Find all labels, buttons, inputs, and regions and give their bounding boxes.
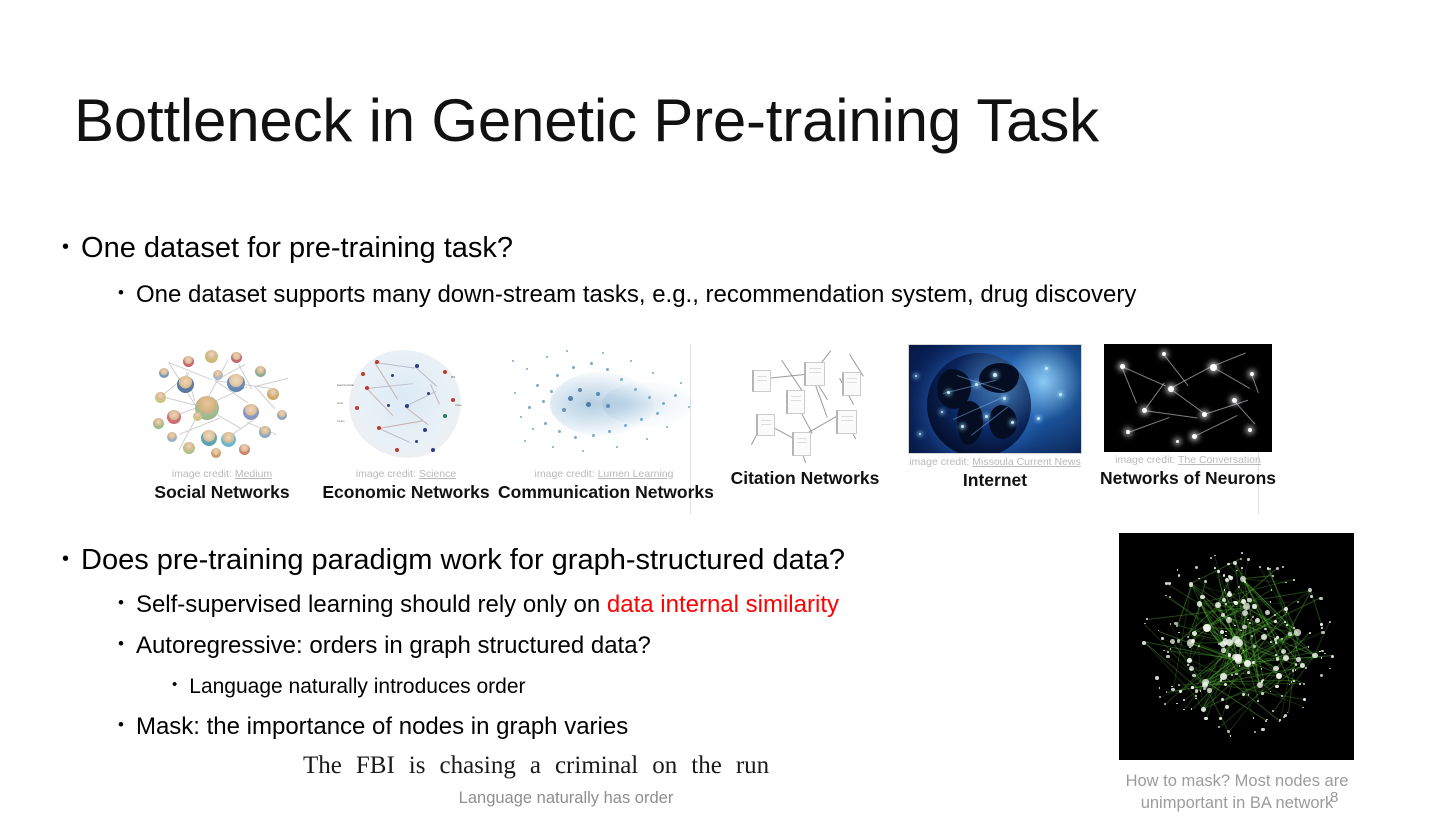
credit-source-link[interactable]: Lumen Learning — [598, 468, 674, 480]
credit-prefix: image credit: — [1115, 454, 1178, 466]
ba-network-node — [1320, 623, 1322, 625]
ba-network-node — [1281, 695, 1283, 697]
ba-network-node — [1192, 631, 1197, 636]
ba-network-node — [1241, 567, 1243, 569]
thumbnail-communication-networks: image credit: Lumen Learning Communicati… — [498, 344, 710, 503]
ba-network-node — [1269, 568, 1271, 570]
ba-network-node — [1142, 641, 1146, 645]
bullet-label: Mask: the importance of nodes in graph v… — [136, 713, 628, 741]
ba-network-node — [1168, 582, 1170, 584]
ba-network-node — [1176, 703, 1178, 705]
bullet-label: Does pre-training paradigm work for grap… — [81, 544, 845, 577]
bullet-dot-icon: • — [118, 715, 124, 735]
ba-network-node — [1223, 574, 1226, 577]
masked-sentence-example: TheFBIischasingacriminalontherun — [296, 752, 776, 780]
ba-network-node — [1275, 685, 1279, 689]
ba-network-node — [1324, 653, 1326, 655]
thumbnail-networks-of-neurons: image credit: The Conversation Networks … — [1090, 344, 1286, 489]
ba-network-node — [1198, 645, 1200, 647]
ba-network-node — [1247, 671, 1250, 674]
thumbnail-caption: Communication Networks — [498, 482, 710, 503]
ba-network-node — [1189, 582, 1194, 587]
ba-network-node — [1249, 622, 1251, 624]
ba-network-node — [1220, 641, 1226, 647]
ba-network-node — [1221, 698, 1224, 701]
sentence-token: the — [684, 752, 729, 780]
ba-network-node — [1207, 688, 1212, 693]
ba-network-node — [1171, 688, 1174, 691]
ba-network-node — [1302, 707, 1304, 709]
ba-network-node — [1253, 645, 1256, 648]
ba-network-node — [1146, 618, 1148, 620]
network-examples-strip: image credit: Medium Social Networks — [130, 344, 1260, 516]
ba-network-node — [1294, 629, 1300, 635]
image-credit: image credit: Medium — [130, 468, 314, 480]
ba-network-node — [1241, 552, 1243, 554]
sentence-token-masked: criminal — [548, 752, 645, 780]
ba-network-node — [1224, 683, 1228, 687]
ba-network-node — [1187, 636, 1189, 638]
bullet-label: Autoregressive: orders in graph structur… — [136, 632, 651, 660]
ba-network-node — [1178, 632, 1180, 634]
ba-network-node — [1270, 691, 1272, 693]
sentence-token-masked: run — [729, 752, 776, 780]
bullet-autoregressive: • Autoregressive: orders in graph struct… — [118, 632, 651, 660]
ba-network-node — [1273, 666, 1279, 672]
ba-network-node — [1305, 667, 1307, 669]
ba-network-node — [1276, 636, 1279, 639]
ba-network-node — [1242, 693, 1245, 696]
ba-caption-line-2: unimportant in BA network — [1108, 793, 1366, 815]
thumbnail-caption: Internet — [900, 470, 1090, 491]
bullet-dot-icon: • — [172, 676, 177, 693]
thumbnail-citation-networks: Citation Networks — [710, 344, 900, 489]
thumbnail-social-networks: image credit: Medium Social Networks — [130, 344, 314, 503]
ba-network-node — [1253, 717, 1255, 719]
ba-network-node — [1179, 690, 1182, 693]
ba-network-node — [1293, 680, 1295, 682]
ba-network-graphic — [1119, 533, 1354, 760]
ba-network-node — [1167, 651, 1169, 653]
ba-network-node — [1308, 646, 1310, 648]
bullet-dot-icon: • — [62, 548, 69, 571]
citation-network-graphic — [720, 344, 890, 466]
sentence-token-masked: chasing — [432, 752, 522, 780]
ba-network-node — [1261, 634, 1267, 640]
credit-prefix: image credit: — [909, 456, 972, 468]
ba-network-node — [1204, 717, 1207, 720]
ba-network-node — [1191, 686, 1194, 689]
ba-network-node — [1303, 683, 1306, 686]
thumbnail-internet: image credit: Missoula Current News Inte… — [900, 344, 1090, 491]
bullet-self-supervised: • Self-supervised learning should rely o… — [118, 591, 839, 619]
ba-network-node — [1210, 557, 1212, 559]
neuron-network-graphic — [1104, 344, 1272, 452]
ba-network-node — [1178, 574, 1180, 576]
ba-network-node — [1177, 569, 1179, 571]
ba-network-node — [1228, 575, 1231, 578]
ba-network-node — [1264, 628, 1266, 630]
ba-network-node — [1286, 624, 1288, 626]
ba-network-node — [1331, 655, 1334, 658]
bullet-label: Language naturally introduces order — [189, 675, 525, 699]
ba-network-node — [1244, 660, 1251, 667]
ba-network-node — [1329, 668, 1331, 670]
ba-network-node — [1329, 621, 1331, 623]
image-credit: image credit: Missoula Current News — [900, 456, 1090, 468]
credit-prefix: image credit: — [356, 468, 419, 480]
ba-network-node — [1276, 567, 1279, 570]
page-number: 8 — [1330, 789, 1338, 806]
ba-network-node — [1297, 601, 1299, 603]
ba-network-node — [1303, 698, 1306, 701]
ba-network-node — [1312, 653, 1317, 658]
ba-network-node — [1320, 674, 1323, 677]
ba-network-node — [1275, 654, 1277, 656]
ba-network-node — [1285, 582, 1287, 584]
ba-network-node — [1225, 603, 1227, 605]
ba-network-node — [1221, 613, 1225, 617]
communication-network-graphic — [506, 344, 702, 466]
thumbnail-caption: Social Networks — [130, 482, 314, 503]
ba-network-node — [1183, 709, 1185, 711]
ba-network-node — [1257, 700, 1259, 702]
credit-prefix: image credit: — [535, 468, 598, 480]
bullet-language-order: • Language naturally introduces order — [172, 675, 526, 699]
sentence-token: FBI — [349, 752, 402, 780]
ba-network-node — [1265, 720, 1267, 722]
ba-network-node — [1159, 696, 1161, 698]
sentence-token: The — [296, 752, 349, 780]
credit-source-link[interactable]: Missoula Current News — [972, 456, 1081, 468]
ba-network-node — [1163, 650, 1165, 652]
ba-network-node — [1252, 616, 1254, 618]
ba-network-node — [1221, 648, 1226, 653]
ba-network-node — [1178, 684, 1180, 686]
ba-network-node — [1217, 570, 1219, 572]
bullet-label: One dataset for pre-training task? — [81, 232, 513, 265]
bullet-dot-icon: • — [118, 593, 124, 613]
sentence-token: on — [645, 752, 684, 780]
ba-network-node — [1161, 637, 1164, 640]
ba-network-node — [1288, 632, 1292, 636]
ba-network-node — [1241, 599, 1246, 604]
page-title: Bottleneck in Genetic Pre-training Task — [74, 86, 1099, 155]
ba-network-node — [1201, 707, 1206, 712]
ba-network-node — [1270, 641, 1272, 643]
ba-network-node — [1215, 602, 1221, 608]
ba-network-node — [1166, 655, 1169, 658]
ba-network-node — [1319, 597, 1322, 600]
ba-network-node — [1159, 687, 1161, 689]
credit-source-link[interactable]: Medium — [235, 468, 272, 480]
bullet-dot-icon: • — [62, 236, 69, 259]
sentence-token: a — [523, 752, 548, 780]
bullet-label: Self-supervised learning should rely onl… — [136, 591, 839, 619]
ba-network-node — [1203, 688, 1206, 691]
ba-network-node — [1187, 639, 1194, 646]
ba-network-node — [1261, 728, 1264, 731]
ba-network-node — [1219, 717, 1222, 720]
bullet-dot-icon: • — [118, 283, 124, 303]
bullet-label-plain: Self-supervised learning should rely onl… — [136, 591, 607, 618]
ba-network-node — [1252, 604, 1256, 608]
bullet-label: One dataset supports many down-stream ta… — [136, 281, 1136, 309]
ba-network-node — [1187, 658, 1192, 663]
ba-network-node — [1274, 620, 1277, 623]
bullet-pretraining-paradigm: • Does pre-training paradigm work for gr… — [62, 544, 845, 577]
ba-network-node — [1266, 719, 1268, 721]
social-network-graphic — [143, 344, 301, 466]
ba-network-node — [1309, 632, 1311, 634]
ba-network-node — [1214, 567, 1216, 569]
thumbnail-caption: Networks of Neurons — [1090, 468, 1286, 489]
internet-globe-graphic — [908, 344, 1082, 454]
ba-network-node — [1261, 692, 1264, 695]
ba-network-node — [1187, 664, 1189, 666]
ba-network-node — [1254, 731, 1256, 733]
image-credit: image credit: The Conversation — [1090, 454, 1286, 466]
ba-network-node — [1200, 595, 1204, 599]
economic-network-graphic: Eastman Kodak Xerox Texaco IBM Chase — [331, 344, 481, 466]
sentence-token: is — [402, 752, 433, 780]
ba-network-node — [1174, 622, 1178, 626]
ba-network-node — [1183, 699, 1185, 701]
image-credit: image credit: Lumen Learning — [498, 468, 710, 480]
ba-network-node — [1321, 627, 1323, 629]
ba-network-node — [1220, 630, 1224, 634]
ba-network-node — [1296, 657, 1301, 662]
thumbnail-economic-networks: Eastman Kodak Xerox Texaco IBM Chase ima… — [314, 344, 498, 503]
ba-network-node — [1321, 657, 1323, 659]
highlighted-phrase: data internal similarity — [607, 591, 839, 618]
ba-network-node — [1282, 566, 1284, 568]
credit-prefix: image credit: — [172, 468, 235, 480]
thumbnail-caption: Economic Networks — [314, 482, 498, 503]
ba-network-node — [1272, 575, 1274, 577]
ba-network-node — [1204, 580, 1207, 583]
ba-network-node — [1284, 714, 1287, 717]
credit-source-link[interactable]: Science — [419, 468, 456, 480]
image-credit: image credit: Science — [314, 468, 498, 480]
ba-network-node — [1293, 627, 1295, 629]
ba-network-node — [1240, 558, 1242, 560]
thumbnail-caption: Citation Networks — [710, 468, 900, 489]
bullet-one-dataset-sub: • One dataset supports many down-stream … — [118, 281, 1136, 309]
ba-network-node — [1195, 566, 1198, 569]
ba-network-node — [1321, 650, 1324, 653]
sentence-caption: Language naturally has order — [296, 789, 836, 808]
credit-source-link[interactable]: The Conversation — [1178, 454, 1261, 466]
ba-network-node — [1247, 558, 1250, 561]
ba-network-node — [1228, 653, 1232, 657]
ba-network-node — [1277, 674, 1279, 676]
bullet-mask-importance: • Mask: the importance of nodes in graph… — [118, 713, 628, 741]
ba-network-node — [1265, 610, 1270, 615]
ba-network-node — [1155, 676, 1159, 680]
ba-network-caption: How to mask? Most nodes are unimportant … — [1108, 771, 1366, 815]
ba-network-node — [1299, 683, 1301, 685]
ba-network-node — [1293, 579, 1295, 581]
ba-network-node — [1164, 703, 1166, 705]
ba-network-node — [1281, 638, 1283, 640]
ba-network-node — [1231, 674, 1233, 676]
bullet-dot-icon: • — [118, 634, 124, 654]
bullet-one-dataset: • One dataset for pre-training task? — [62, 232, 513, 265]
ba-network-node — [1225, 705, 1229, 709]
ba-caption-line-1: How to mask? Most nodes are — [1108, 771, 1366, 793]
